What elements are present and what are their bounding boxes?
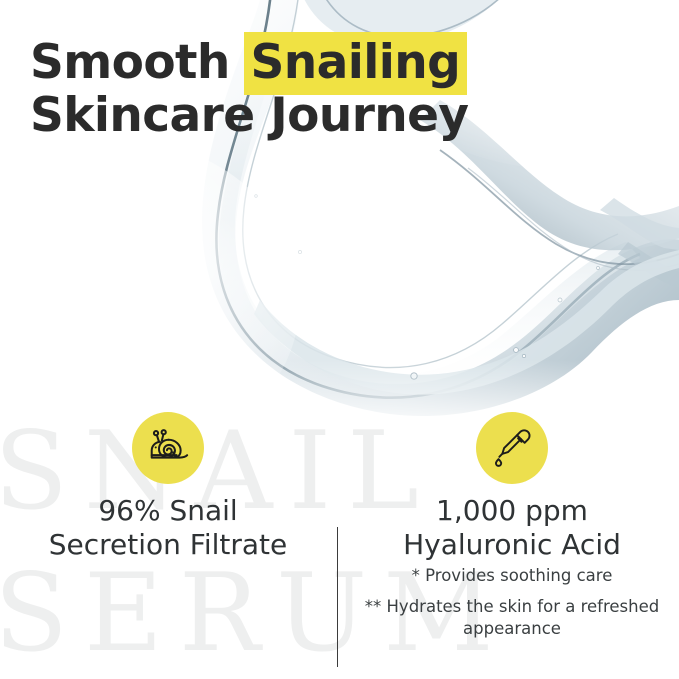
footnote-double-asterisk: ** Hydrates the skin for a refreshed app… [352,596,672,640]
footnote-single-asterisk: * Provides soothing care [352,565,672,587]
feature-ha-title-line1: 1,000 ppm [352,494,672,528]
headline-line-2: Skincare Journey [30,89,550,142]
feature-snail-secretion: 96% Snail Secretion Filtrate [8,405,328,562]
footnote-list: * Provides soothing care ** Hydrates the… [352,565,672,649]
headline: Smooth Snailing Skincare Journey [30,36,550,142]
dropper-icon [490,426,534,470]
feature-hyaluronic-acid: 1,000 ppm Hyaluronic Acid [352,405,672,562]
product-banner: SNAIL SERUM Smooth Snailing Skincare Jou… [0,0,679,679]
feature-ha-title-line2: Hyaluronic Acid [352,528,672,562]
snail-icon [145,425,191,471]
column-divider [337,527,338,667]
dropper-icon-badge [476,412,548,484]
headline-text-smooth: Smooth [30,35,246,90]
feature-snail-title-line2: Secretion Filtrate [8,528,328,562]
feature-snail-title: 96% Snail Secretion Filtrate [8,494,328,562]
headline-highlight-snailing: Snailing [244,32,468,95]
feature-snail-title-line1: 96% Snail [8,494,328,528]
snail-icon-badge [132,412,204,484]
headline-line-1: Smooth Snailing [30,36,550,89]
feature-ha-title: 1,000 ppm Hyaluronic Acid [352,494,672,562]
